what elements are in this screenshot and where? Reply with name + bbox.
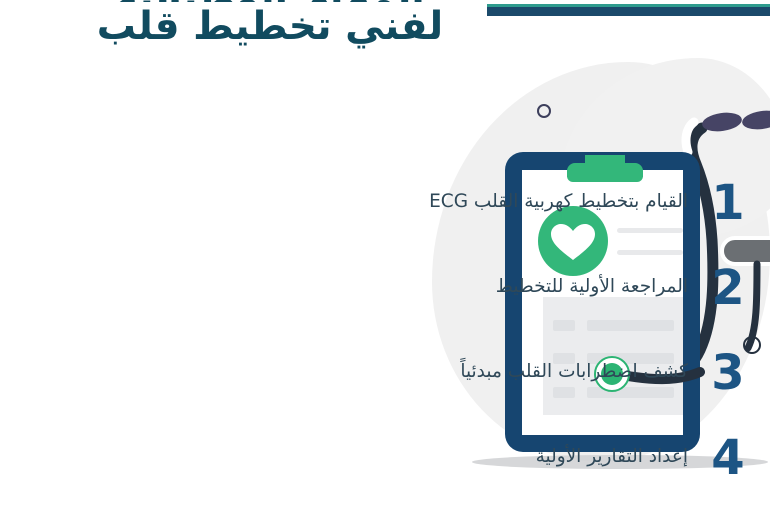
list-item-number: 4 [700,434,756,482]
list-item-number: 3 [700,349,756,397]
infographic-slide: المهام الوظيفية لفني تخطيط قلب [0,0,770,513]
list-item-label: إعداد التقارير الأولية [536,445,700,470]
list-item-label: المراجعة الأولية للتخطيط [496,275,700,300]
header-divider-bar [487,4,770,16]
list-item-number: 1 [700,179,756,227]
list-item: 2 المراجعة الأولية للتخطيط [350,245,770,330]
list-item: 1 القيام بتخطيط كهربية القلب ECG [350,160,770,245]
list-item-label: القيام بتخطيط كهربية القلب ECG [429,190,700,215]
list-item-number: 2 [700,264,756,312]
page-title: المهام الوظيفية لفني تخطيط قلب [70,0,470,50]
list-item-label: كشف اضطرابات القلب مبدئياً [460,360,700,385]
title-line-main: لفني تخطيط قلب [70,4,470,50]
duties-list: 1 القيام بتخطيط كهربية القلب ECG 2 المرا… [350,160,770,500]
list-item: 3 كشف اضطرابات القلب مبدئياً [350,330,770,415]
list-item: 4 إعداد التقارير الأولية [350,415,770,500]
decorative-circle-outline [537,104,551,118]
title-line-cropped: المهام الوظيفية [70,0,470,2]
